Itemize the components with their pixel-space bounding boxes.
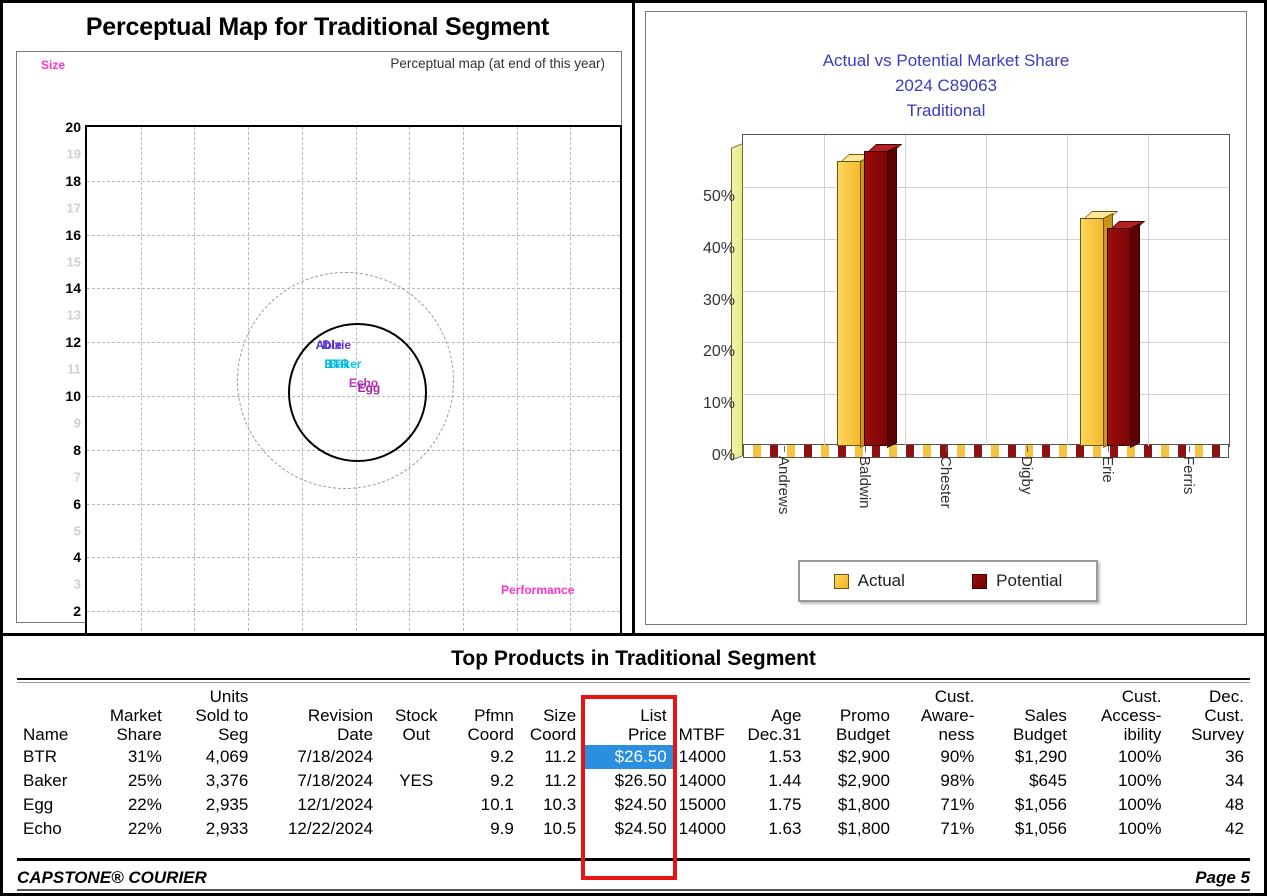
cell-age[interactable]: 1.75: [741, 793, 807, 817]
table-head: NameMarket ShareUnits Sold to SegRevisio…: [17, 687, 1250, 745]
cell-units[interactable]: 2,933: [168, 817, 254, 841]
y-axis-tick-label: 18: [51, 173, 81, 189]
chart-x-tick-mark: [1108, 446, 1109, 452]
table-header-price[interactable]: List Price: [582, 687, 673, 745]
footer-rule-bottom: [17, 889, 1250, 891]
chart-x-tick-mark: [946, 446, 947, 452]
cell-name[interactable]: Egg: [17, 793, 89, 817]
table-header-share[interactable]: Market Share: [89, 687, 167, 745]
cell-sales[interactable]: $1,056: [980, 817, 1073, 841]
chart-x-label-digby: Digby: [1018, 456, 1035, 494]
cell-sales[interactable]: $1,056: [980, 793, 1073, 817]
table-header-promo[interactable]: Promo Budget: [807, 687, 896, 745]
cell-promo[interactable]: $2,900: [807, 769, 896, 793]
y-axis-tick-label: 12: [51, 334, 81, 350]
chart-y-tick-label: 40%: [703, 240, 735, 258]
gridline-vertical: [194, 127, 195, 661]
gridline-vertical: [517, 127, 518, 661]
chart-x-tick-mark: [1189, 446, 1190, 452]
perceptual-map-y-axis-label: Size: [41, 58, 65, 72]
chart-legend: Actual Potential: [798, 560, 1098, 602]
y-axis-tick-label: 6: [51, 496, 81, 512]
market-share-chart-panel: Actual vs Potential Market Share 2024 C8…: [635, 3, 1264, 633]
cell-aware[interactable]: 71%: [896, 793, 980, 817]
y-axis-tick-label: 5: [51, 523, 81, 538]
bar-chart-plot-area[interactable]: 0%10%20%30%40%50%AndrewsBaldwinChesterDi…: [742, 134, 1230, 447]
footer-rule: [17, 858, 1250, 861]
cell-revision[interactable]: 12/1/2024: [254, 793, 379, 817]
cell-age[interactable]: 1.63: [741, 817, 807, 841]
chart-gridline-vertical: [905, 135, 906, 446]
bar-front-face: [837, 161, 861, 446]
y-axis-tick-label: 7: [51, 469, 81, 484]
chart-x-tick-mark: [865, 446, 866, 452]
gridline-horizontal: [87, 235, 620, 236]
table-title: Top Products in Traditional Segment: [3, 641, 1264, 678]
top-products-table: NameMarket ShareUnits Sold to SegRevisio…: [17, 687, 1250, 841]
cell-size[interactable]: 10.5: [520, 817, 582, 841]
cell-access[interactable]: 100%: [1073, 793, 1168, 817]
bar-baldwin-actual[interactable]: [837, 161, 861, 446]
cell-aware[interactable]: 71%: [896, 817, 980, 841]
footer-brand: CAPSTONE® COURIER: [17, 868, 207, 888]
cell-promo[interactable]: $1,800: [807, 793, 896, 817]
cell-name[interactable]: Echo: [17, 817, 89, 841]
bar-baldwin-potential[interactable]: [864, 151, 888, 446]
cell-sales[interactable]: $645: [980, 769, 1073, 793]
cell-units[interactable]: 2,935: [168, 793, 254, 817]
cell-mtbf[interactable]: 14000: [673, 745, 741, 769]
perceptual-map-x-axis-label: Performance: [501, 583, 574, 597]
chart-gridline-vertical: [1148, 135, 1149, 446]
table-header-revision[interactable]: Revision Date: [254, 687, 379, 745]
cell-age[interactable]: 1.44: [741, 769, 807, 793]
table-header-sales[interactable]: Sales Budget: [980, 687, 1073, 745]
cell-revision[interactable]: 12/22/2024: [254, 817, 379, 841]
cell-promo[interactable]: $1,800: [807, 817, 896, 841]
gridline-horizontal: [87, 557, 620, 558]
cell-price[interactable]: $24.50: [582, 793, 673, 817]
cell-mtbf[interactable]: 15000: [673, 793, 741, 817]
chart-x-label-baldwin: Baldwin: [856, 456, 873, 509]
table-row[interactable]: Echo22%2,93312/22/20249.910.5$24.5014000…: [17, 817, 1250, 841]
top-products-table-section: Top Products in Traditional Segment Name…: [3, 641, 1264, 893]
product-label-dixie[interactable]: Dixie: [322, 339, 351, 351]
chart-y-tick-label: 30%: [703, 292, 735, 310]
bar-front-face: [1107, 228, 1131, 446]
legend-swatch-actual: [834, 574, 849, 589]
y-axis-tick-label: 2: [51, 603, 81, 619]
report-page: Perceptual Map for Traditional Segment P…: [0, 0, 1267, 896]
cell-pfmn[interactable]: 10.1: [453, 793, 519, 817]
table-header-size[interactable]: Size Coord: [520, 687, 582, 745]
gridline-vertical: [141, 127, 142, 661]
cell-pfmn[interactable]: 9.2: [453, 769, 519, 793]
perceptual-map-subtitle: Perceptual map (at end of this year): [390, 56, 605, 71]
cell-share[interactable]: 22%: [89, 793, 167, 817]
y-axis-tick-label: 11: [51, 362, 81, 377]
cell-aware[interactable]: 98%: [896, 769, 980, 793]
cell-access[interactable]: 100%: [1073, 745, 1168, 769]
cell-access[interactable]: 100%: [1073, 769, 1168, 793]
perceptual-map-frame: Perceptual map (at end of this year) 012…: [16, 51, 622, 623]
perceptual-map-title: Perceptual Map for Traditional Segment: [3, 13, 632, 42]
market-share-chart-title: Actual vs Potential Market Share 2024 C8…: [646, 48, 1246, 123]
y-axis-tick-label: 15: [51, 254, 81, 269]
cell-sales[interactable]: $1,290: [980, 745, 1073, 769]
chart-gridline-vertical: [1067, 135, 1068, 446]
y-axis-tick-label: 13: [51, 308, 81, 323]
chart-x-label-andrews: Andrews: [775, 456, 792, 514]
bar-front-face: [864, 151, 888, 446]
bar-front-face: [1080, 218, 1104, 446]
chart-y-tick-label: 10%: [703, 395, 735, 413]
chart-x-label-ferris: Ferris: [1180, 456, 1197, 494]
table-header-pfmn[interactable]: Pfmn Coord: [453, 687, 519, 745]
market-share-chart-frame: Actual vs Potential Market Share 2024 C8…: [645, 11, 1247, 625]
cell-stockout[interactable]: YES: [379, 769, 453, 793]
table-header-row: NameMarket ShareUnits Sold to SegRevisio…: [17, 687, 1250, 745]
cell-share[interactable]: 25%: [89, 769, 167, 793]
y-axis-tick-label: 4: [51, 549, 81, 565]
product-label-egg[interactable]: Egg: [358, 382, 381, 394]
legend-label-actual: Actual: [858, 571, 905, 591]
table-header-stockout[interactable]: Stock Out: [379, 687, 453, 745]
table-header-survey[interactable]: Dec. Cust. Survey: [1167, 687, 1250, 745]
cell-stockout[interactable]: [379, 793, 453, 817]
bar-erie-potential[interactable]: [1107, 228, 1131, 446]
cell-pfmn[interactable]: 9.2: [453, 745, 519, 769]
cell-size[interactable]: 11.2: [520, 745, 582, 769]
gridline-vertical: [463, 127, 464, 661]
chart-x-label-erie: Erie: [1099, 456, 1116, 483]
chart-y-tick-label: 20%: [703, 343, 735, 361]
y-axis-tick-label: 16: [51, 227, 81, 243]
cell-price[interactable]: $24.50: [582, 817, 673, 841]
legend-swatch-potential: [972, 574, 987, 589]
cell-promo[interactable]: $2,900: [807, 745, 896, 769]
chart-x-label-chester: Chester: [937, 456, 954, 509]
gridline-horizontal: [87, 181, 620, 182]
gridline-horizontal: [87, 611, 620, 612]
chart-floor: [743, 444, 1229, 458]
cell-units[interactable]: 3,376: [168, 769, 254, 793]
cell-survey[interactable]: 48: [1167, 793, 1250, 817]
chart-x-tick-mark: [784, 446, 785, 452]
bar-side-face: [1130, 223, 1140, 448]
cell-name[interactable]: Baker: [17, 769, 89, 793]
cell-mtbf[interactable]: 14000: [673, 817, 741, 841]
top-panels-row: Perceptual Map for Traditional Segment P…: [3, 3, 1264, 633]
perceptual-map-panel: Perceptual Map for Traditional Segment P…: [3, 3, 635, 633]
cell-revision[interactable]: 7/18/2024: [254, 745, 379, 769]
cell-size[interactable]: 10.3: [520, 793, 582, 817]
gridline-vertical: [570, 127, 571, 661]
legend-label-potential: Potential: [996, 571, 1062, 591]
cell-age[interactable]: 1.53: [741, 745, 807, 769]
cell-price[interactable]: $26.50: [582, 745, 673, 769]
cell-size[interactable]: 11.2: [520, 769, 582, 793]
chart-gridline-vertical: [824, 135, 825, 446]
table-header-aware[interactable]: Cust. Aware- ness: [896, 687, 980, 745]
cell-access[interactable]: 100%: [1073, 817, 1168, 841]
cell-survey[interactable]: 36: [1167, 745, 1250, 769]
y-axis-tick-label: 8: [51, 442, 81, 458]
y-axis-tick-label: 9: [51, 415, 81, 430]
table-header-age[interactable]: Age Dec.31: [741, 687, 807, 745]
bar-side-face: [887, 146, 897, 448]
cell-share[interactable]: 22%: [89, 817, 167, 841]
cell-units[interactable]: 4,069: [168, 745, 254, 769]
table-rule-top: [17, 678, 1250, 680]
product-label-btr[interactable]: BTR: [324, 358, 349, 370]
table-row[interactable]: Egg22%2,93512/1/202410.110.3$24.50150001…: [17, 793, 1250, 817]
cell-revision[interactable]: 7/18/2024: [254, 769, 379, 793]
cell-stockout[interactable]: [379, 817, 453, 841]
cell-mtbf[interactable]: 14000: [673, 769, 741, 793]
table-header-name[interactable]: Name: [17, 687, 89, 745]
y-axis-tick-label: 3: [51, 577, 81, 592]
chart-gridline-vertical: [986, 135, 987, 446]
bar-erie-actual[interactable]: [1080, 218, 1104, 446]
table-row[interactable]: Baker25%3,3767/18/2024YES9.211.2$26.5014…: [17, 769, 1250, 793]
chart-y-tick-label: 50%: [703, 188, 735, 206]
gridline-horizontal: [87, 504, 620, 505]
cell-pfmn[interactable]: 9.9: [453, 817, 519, 841]
chart-title-line3: Traditional: [646, 98, 1246, 123]
chart-y-tick-label: 0%: [712, 447, 735, 465]
cell-name[interactable]: BTR: [17, 745, 89, 769]
cell-stockout[interactable]: [379, 745, 453, 769]
y-axis-tick-label: 17: [51, 200, 81, 215]
chart-title-line1: Actual vs Potential Market Share: [646, 48, 1246, 73]
y-axis-tick-label: 19: [51, 146, 81, 161]
chart-title-line2: 2024 C89063: [646, 73, 1246, 98]
table-body: BTR31%4,0697/18/20249.211.2$26.50140001.…: [17, 745, 1250, 841]
y-axis-tick-label: 14: [51, 280, 81, 296]
cell-aware[interactable]: 90%: [896, 745, 980, 769]
y-axis-tick-label: 20: [51, 119, 81, 135]
legend-item-actual[interactable]: Actual: [834, 571, 905, 591]
cell-survey[interactable]: 34: [1167, 769, 1250, 793]
table-header-units[interactable]: Units Sold to Seg: [168, 687, 254, 745]
table-rule-top2: [17, 682, 1250, 683]
table-row[interactable]: BTR31%4,0697/18/20249.211.2$26.50140001.…: [17, 745, 1250, 769]
cell-price[interactable]: $26.50: [582, 769, 673, 793]
rough-circle: [237, 272, 454, 489]
cell-survey[interactable]: 42: [1167, 817, 1250, 841]
footer-page-number: Page 5: [1195, 868, 1250, 888]
table-header-access[interactable]: Cust. Access- ibility: [1073, 687, 1168, 745]
legend-item-potential[interactable]: Potential: [972, 571, 1062, 591]
y-axis-tick-label: 10: [51, 388, 81, 404]
cell-share[interactable]: 31%: [89, 745, 167, 769]
table-header-mtbf[interactable]: MTBF: [673, 687, 741, 745]
chart-x-tick-mark: [1027, 446, 1028, 452]
